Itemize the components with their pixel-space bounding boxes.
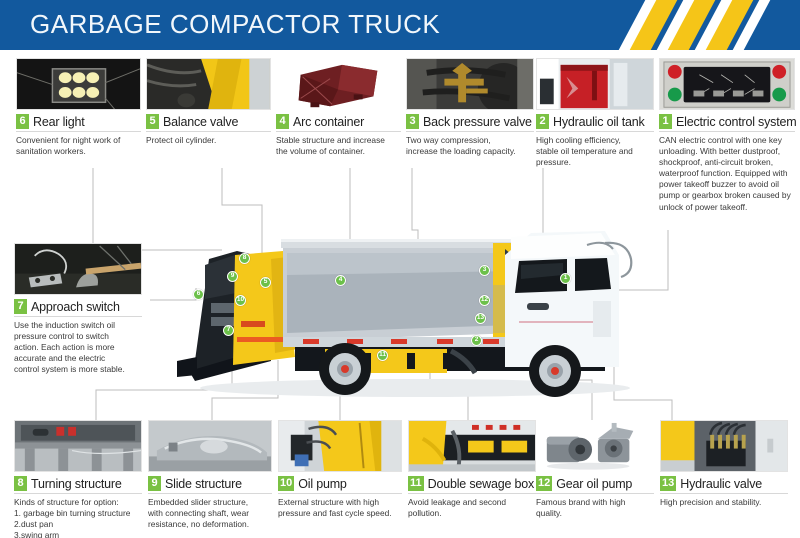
feature-number-badge: 3	[406, 114, 419, 129]
desc-line: accurate and the electric	[14, 353, 142, 364]
feature-number-badge: 5	[146, 114, 159, 129]
desc-line: Protect oil cylinder.	[146, 135, 271, 146]
feature-description: Use the induction switch oil pressure co…	[14, 320, 142, 375]
feature-image-double-sewage-box	[408, 420, 536, 472]
desc-line: increase the loading capacity.	[406, 146, 534, 157]
feature-number-badge: 2	[536, 114, 549, 129]
desc-line: Stable structure and increase	[276, 135, 401, 146]
feature-number-badge: 6	[16, 114, 29, 129]
desc-line: 3.swing arm	[14, 530, 142, 538]
feature-titlebar: 2 Hydraulic oil tank	[536, 114, 654, 132]
desc-line: control system is more stable.	[14, 364, 142, 375]
feature-image-back-pressure-valve	[406, 58, 534, 110]
desc-line: pressure.	[536, 157, 654, 168]
feature-titlebar: 3 Back pressure valve	[406, 114, 534, 132]
desc-line: CAN electric control with one key	[659, 135, 795, 146]
truck-marker-13[interactable]: 13	[475, 313, 486, 324]
feature-title: Balance valve	[163, 115, 238, 129]
feature-number-badge: 13	[660, 476, 676, 491]
feature-card-slide-structure[interactable]: 9 Slide structure Embedded slider struct…	[148, 420, 272, 530]
feature-number-badge: 1	[659, 114, 672, 129]
feature-card-oil-pump[interactable]: 10 Oil pump External structure with high…	[278, 420, 402, 519]
truck-marker-2[interactable]: 2	[471, 335, 482, 346]
truck-marker-10[interactable]: 10	[235, 295, 246, 306]
feature-titlebar: 11 Double sewage box	[408, 476, 536, 494]
feature-description: Protect oil cylinder.	[146, 135, 271, 146]
desc-line: unlock of power takeoff.	[659, 202, 795, 213]
feature-titlebar: 12 Gear oil pump	[536, 476, 654, 494]
desc-line: sanitation workers.	[16, 146, 141, 157]
feature-image-approach-switch	[14, 243, 142, 295]
truck-marker-4[interactable]: 4	[335, 275, 346, 286]
desc-line: pollution.	[408, 508, 536, 519]
feature-title: Turning structure	[31, 477, 122, 491]
desc-line: the volume of container.	[276, 146, 401, 157]
feature-card-arc-container[interactable]: 4 Arc container Stable structure and inc…	[276, 58, 401, 157]
truck-marker-6[interactable]: 6	[193, 289, 204, 300]
feature-number-badge: 9	[148, 476, 161, 491]
truck-marker-3[interactable]: 3	[479, 265, 490, 276]
desc-line: quality.	[536, 508, 654, 519]
feature-title: Back pressure valve	[423, 115, 532, 129]
feature-titlebar: 5 Balance valve	[146, 114, 271, 132]
feature-card-back-pressure-valve[interactable]: 3 Back pressure valve Two way compressio…	[406, 58, 534, 157]
desc-line: shockproof, anti-circuit broken,	[659, 157, 795, 168]
feature-image-hydraulic-oil-tank	[536, 58, 654, 110]
feature-description: Stable structure and increase the volume…	[276, 135, 401, 157]
feature-title: Arc container	[293, 115, 364, 129]
desc-line: Convenient for night work of	[16, 135, 141, 146]
feature-image-slide-structure	[148, 420, 272, 472]
feature-image-rear-light	[16, 58, 141, 110]
desc-line: action. Each action is more	[14, 342, 142, 353]
feature-title: Electric control system	[676, 115, 796, 129]
feature-title: Hydraulic valve	[680, 477, 762, 491]
feature-card-turning-structure[interactable]: 8 Turning structure Kinds of structure f…	[14, 420, 142, 538]
desc-line: unloading. With better dustproof,	[659, 146, 795, 157]
desc-line: High precision and stability.	[660, 497, 788, 508]
feature-number-badge: 10	[278, 476, 294, 491]
feature-title: Slide structure	[165, 477, 242, 491]
desc-line: Famous brand with high	[536, 497, 654, 508]
truck-illustration: 6 7 8 9 10 5 4 11 3 12 13 2 1	[175, 225, 645, 415]
desc-line: High cooling efficiency,	[536, 135, 654, 146]
feature-title: Gear oil pump	[556, 477, 632, 491]
feature-title: Hydraulic oil tank	[553, 115, 645, 129]
feature-description: High precision and stability.	[660, 497, 788, 508]
infographic-page: GARBAGE COMPACTOR TRUCK	[0, 0, 800, 538]
feature-number-badge: 11	[408, 476, 424, 491]
feature-titlebar: 9 Slide structure	[148, 476, 272, 494]
feature-card-rear-light[interactable]: 6 Rear light Convenient for night work o…	[16, 58, 141, 157]
feature-image-balance-valve	[146, 58, 271, 110]
feature-description: Two way compression, increase the loadin…	[406, 135, 534, 157]
desc-line: Kinds of structure for option:	[14, 497, 142, 508]
feature-number-badge: 8	[14, 476, 27, 491]
desc-line: power takeoff buzzer to avoid oil	[659, 179, 795, 190]
feature-card-electric-control-system[interactable]: 1 Electric control system CAN electric c…	[659, 58, 795, 213]
feature-description: Avoid leakage and second pollution.	[408, 497, 536, 519]
truck-marker-7[interactable]: 7	[223, 325, 234, 336]
feature-image-oil-pump	[278, 420, 402, 472]
truck-marker-8[interactable]: 8	[239, 253, 250, 264]
feature-card-approach-switch[interactable]: 7 Approach switch Use the induction swit…	[14, 243, 142, 375]
feature-image-hydraulic-valve	[660, 420, 788, 472]
feature-description: Kinds of structure for option: 1. garbag…	[14, 497, 142, 538]
desc-line: pressure control to switch	[14, 331, 142, 342]
truck-marker-12[interactable]: 12	[479, 295, 490, 306]
desc-line: stable oil temperature and	[536, 146, 654, 157]
feature-title: Rear light	[33, 115, 85, 129]
truck-marker-9[interactable]: 9	[227, 271, 238, 282]
feature-description: Convenient for night work of sanitation …	[16, 135, 141, 157]
feature-titlebar: 13 Hydraulic valve	[660, 476, 788, 494]
feature-card-hydraulic-valve[interactable]: 13 Hydraulic valve High precision and st…	[660, 420, 788, 508]
desc-line: Embedded slider structure,	[148, 497, 272, 508]
feature-card-gear-oil-pump[interactable]: 12 Gear oil pump Famous brand with high …	[536, 420, 654, 519]
feature-image-gear-oil-pump	[536, 420, 654, 472]
feature-number-badge: 12	[536, 476, 552, 491]
desc-line: waterproof function. Equipped with	[659, 168, 795, 179]
desc-line: resistance, no deformation.	[148, 519, 272, 530]
feature-card-hydraulic-oil-tank[interactable]: 2 Hydraulic oil tank High cooling effici…	[536, 58, 654, 168]
desc-line: Use the induction switch oil	[14, 320, 142, 331]
feature-number-badge: 7	[14, 299, 27, 314]
desc-line: Two way compression,	[406, 135, 534, 146]
desc-line: pump or gearbox broken caused by	[659, 190, 795, 201]
feature-title: Double sewage box	[428, 477, 534, 491]
truck-marker-1[interactable]: 1	[560, 273, 571, 284]
feature-title: Oil pump	[298, 477, 346, 491]
feature-image-electric-control-system	[659, 58, 795, 110]
feature-description: External structure with high pressure an…	[278, 497, 402, 519]
feature-titlebar: 10 Oil pump	[278, 476, 402, 494]
feature-titlebar: 8 Turning structure	[14, 476, 142, 494]
desc-line: with connecting shaft, wear	[148, 508, 272, 519]
truck-marker-5[interactable]: 5	[260, 277, 271, 288]
feature-description: Embedded slider structure, with connecti…	[148, 497, 272, 530]
feature-description: Famous brand with high quality.	[536, 497, 654, 519]
desc-line: External structure with high	[278, 497, 402, 508]
feature-titlebar: 1 Electric control system	[659, 114, 795, 132]
feature-number-badge: 4	[276, 114, 289, 129]
feature-titlebar: 4 Arc container	[276, 114, 401, 132]
feature-card-double-sewage-box[interactable]: 11 Double sewage box Avoid leakage and s…	[408, 420, 536, 519]
feature-titlebar: 7 Approach switch	[14, 299, 142, 317]
desc-line: Avoid leakage and second	[408, 497, 536, 508]
feature-description: CAN electric control with one key unload…	[659, 135, 795, 213]
desc-line: 2.dust pan	[14, 519, 142, 530]
desc-line: 1. garbage bin turning structure	[14, 508, 142, 519]
feature-card-balance-valve[interactable]: 5 Balance valve Protect oil cylinder.	[146, 58, 271, 146]
truck-marker-11[interactable]: 11	[377, 350, 388, 361]
feature-titlebar: 6 Rear light	[16, 114, 141, 132]
desc-line: pressure and fast cycle speed.	[278, 508, 402, 519]
feature-image-turning-structure	[14, 420, 142, 472]
feature-description: High cooling efficiency, stable oil temp…	[536, 135, 654, 168]
feature-image-arc-container	[276, 58, 401, 110]
feature-title: Approach switch	[31, 300, 120, 314]
